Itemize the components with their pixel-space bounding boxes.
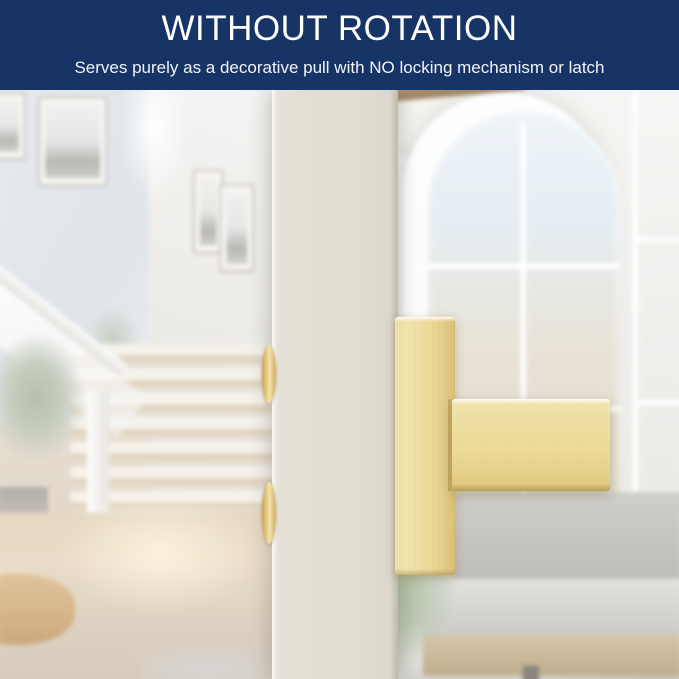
interior-knob-edge-upper [262,345,276,403]
framed-picture [220,184,255,272]
framed-picture [0,92,26,159]
interior-floor-sunlight [58,492,262,614]
handle-pull-bar [452,399,610,491]
exterior-sofa-base [423,635,679,676]
handle-backplate [395,317,455,575]
exterior-sofa-leg [523,666,539,679]
banner-subtitle: Serves purely as a decorative pull with … [0,57,679,79]
interior-scene [0,90,283,679]
interior-window-light [118,90,189,207]
framed-picture [38,96,107,186]
banner-title: WITHOUT ROTATION [0,9,679,49]
exterior-sofa-seat [423,579,679,640]
side-window [633,90,679,533]
header-banner: WITHOUT ROTATION Serves purely as a deco… [0,0,679,90]
photo-area: Interior Exterior [0,90,679,679]
product-lifestyle-image: WITHOUT ROTATION Serves purely as a deco… [0,0,679,679]
interior-knob-edge-lower [262,482,276,544]
door-slab [272,90,398,679]
interior-plant [0,334,85,462]
interior-rug [140,640,283,679]
